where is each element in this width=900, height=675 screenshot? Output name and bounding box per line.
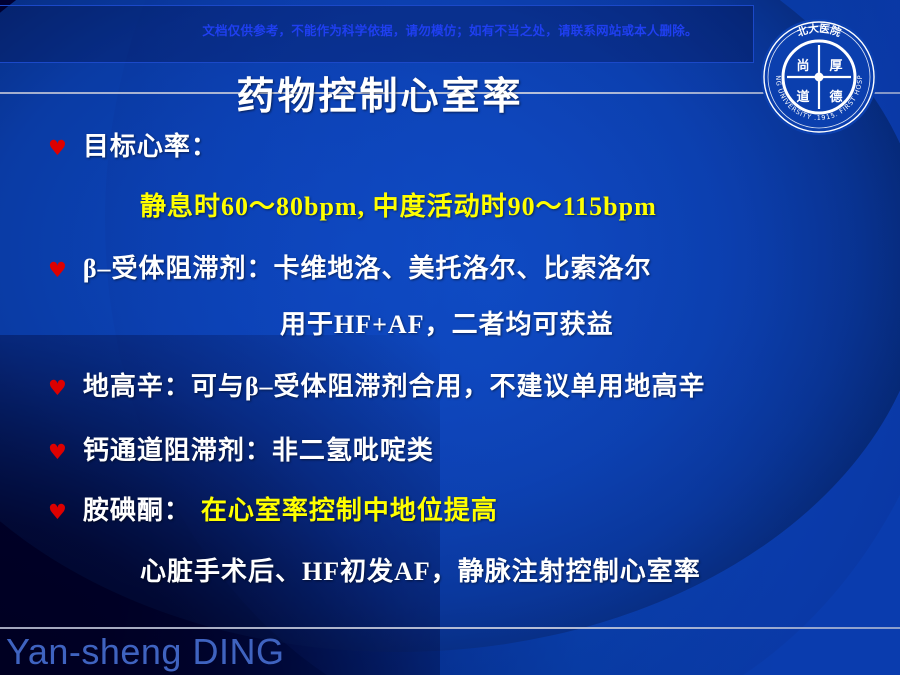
heart-bullet-icon: ♥ [48, 502, 67, 523]
heart-bullet-icon: ♥ [48, 138, 67, 159]
svg-text:厚: 厚 [829, 58, 842, 74]
footer-divider [0, 627, 900, 629]
heart-bullet-icon: ♥ [48, 260, 67, 281]
bullet-item-calcium-channel-blockers: ♥ 钙通道阻滞剂：非二氢吡啶类 [48, 430, 434, 467]
bullet-text: 胺碘酮： [83, 490, 191, 527]
bullet-item-digoxin: ♥ 地高辛：可与β–受体阻滞剂合用，不建议单用地高辛 [48, 366, 706, 403]
bullet-item-amiodarone: ♥ 胺碘酮： 在心室率控制中地位提高 [48, 490, 498, 527]
author-name: Yan-sheng DING [6, 631, 284, 673]
highlight-text: 静息时60～80bpm, 中度活动时90～115bpm [140, 192, 657, 221]
bullet-item-beta-blockers: ♥ β–受体阻滞剂：卡维地洛、美托洛尔、比索洛尔 [48, 248, 652, 285]
sub-line-text: 用于HF+AF，二者均可获益 [280, 310, 614, 339]
svg-text:德: 德 [829, 89, 842, 105]
bullet-text: β–受体阻滞剂：卡维地洛、美托洛尔、比索洛尔 [83, 248, 652, 285]
heart-bullet-icon: ♥ [48, 378, 67, 399]
bullet-item-target-heart-rate: ♥ 目标心率： [48, 126, 218, 163]
sub-line-text: 心脏手术后、HF初发AF，静脉注射控制心室率 [140, 557, 701, 586]
highlight-text: 在心室率控制中地位提高 [201, 490, 498, 527]
slide-body: ♥ 目标心率： 静息时60～80bpm, 中度活动时90～115bpm ♥ β–… [0, 108, 900, 608]
sub-line-target-heart-rate-value: 静息时60～80bpm, 中度活动时90～115bpm [140, 186, 657, 223]
heart-bullet-icon: ♥ [48, 442, 67, 463]
presentation-slide: 文档仅供参考，不能作为科学依据，请勿模仿；如有不当之处，请联系网站或本人删除。 … [0, 0, 900, 675]
bullet-text: 钙通道阻滞剂：非二氢吡啶类 [83, 430, 434, 467]
svg-text:尚: 尚 [796, 58, 809, 74]
sub-line-amiodarone-usage: 心脏手术后、HF初发AF，静脉注射控制心室率 [140, 551, 701, 588]
svg-text:道: 道 [796, 89, 809, 105]
bullet-text: 地高辛：可与β–受体阻滞剂合用，不建议单用地高辛 [83, 366, 706, 403]
sub-line-beta-blockers-indication: 用于HF+AF，二者均可获益 [280, 304, 614, 341]
bullet-text: 目标心率： [83, 126, 218, 163]
